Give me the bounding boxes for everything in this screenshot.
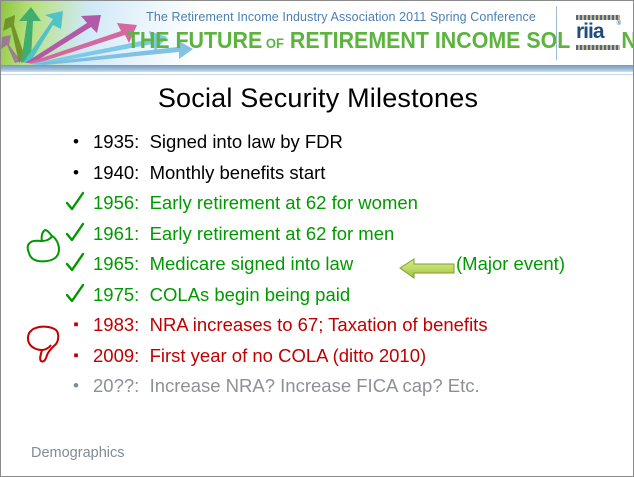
page-title: Social Security Milestones — [1, 83, 634, 114]
list-item: 1956: Early retirement at 62 for women — [1, 188, 634, 219]
bullet-square-icon: ▪ — [67, 341, 85, 371]
banner-title: THE FUTURE OF RETIREMENT INCOME SOLUTION… — [127, 27, 546, 54]
milestone-desc: Early retirement at 62 for women — [150, 192, 418, 213]
list-item-text: 1983: NRA increases to 67; Taxation of b… — [93, 310, 488, 340]
list-item-text: 1956: Early retirement at 62 for women — [93, 188, 418, 218]
checkmark-icon — [65, 252, 85, 274]
list-item: 1975: COLAs begin being paid — [1, 280, 634, 311]
milestone-desc: First year of no COLA (ditto 2010) — [150, 345, 427, 366]
list-item-text: 1975: COLAs begin being paid — [93, 280, 350, 310]
list-item-text: 1961: Early retirement at 62 for men — [93, 219, 394, 249]
milestone-year: 1983: — [93, 314, 139, 335]
list-item-text: 20??: Increase NRA? Increase FICA cap? E… — [93, 371, 480, 401]
footer-label: Demographics — [31, 445, 125, 461]
list-item: 1961: Early retirement at 62 for men — [1, 219, 634, 250]
milestone-desc: Signed into law by FDR — [150, 131, 343, 152]
milestone-year: 2009: — [93, 345, 139, 366]
milestone-year: 20??: — [93, 375, 139, 396]
milestone-year: 1961: — [93, 223, 139, 244]
bullet-dot-icon: • — [67, 127, 85, 157]
banner-title-part1: THE FUTURE — [127, 27, 262, 53]
thumbs-down-icon — [23, 319, 65, 363]
logo-trademark: ® — [617, 21, 621, 27]
milestone-year: 1975: — [93, 284, 139, 305]
riia-logo: riia ® — [567, 13, 625, 53]
bullet-dot-icon: • — [67, 371, 85, 401]
list-item-text: 1940: Monthly benefits start — [93, 158, 325, 188]
left-arrow-callout-icon — [399, 257, 455, 279]
slide: The Retirement Income Industry Associati… — [0, 0, 634, 477]
logo-wordmark: riia — [576, 20, 620, 44]
milestone-year: 1935: — [93, 131, 139, 152]
list-item-text: 1965: Medicare signed into law — [93, 249, 353, 279]
milestone-desc: Monthly benefits start — [150, 162, 326, 183]
milestone-desc: Medicare signed into law — [150, 253, 354, 274]
milestone-year: 1940: — [93, 162, 139, 183]
banner-thin-rule — [1, 74, 633, 75]
checkmark-icon — [65, 191, 85, 213]
banner-bottom-band — [1, 65, 633, 72]
list-item-text: 1935: Signed into law by FDR — [93, 127, 343, 157]
milestones-list: • 1935: Signed into law by FDR • 1940: M… — [1, 127, 634, 402]
list-item: • 1935: Signed into law by FDR — [1, 127, 634, 158]
list-item: 1965: Medicare signed into law (Major ev… — [1, 249, 634, 280]
checkmark-icon — [65, 222, 85, 244]
bullet-square-icon: ▪ — [67, 310, 85, 340]
list-item: • 1940: Monthly benefits start — [1, 158, 634, 189]
list-item: • 20??: Increase NRA? Increase FICA cap?… — [1, 371, 634, 402]
milestone-year: 1956: — [93, 192, 139, 213]
milestone-desc: Early retirement at 62 for men — [150, 223, 395, 244]
milestone-suffix: (Major event) — [456, 249, 565, 279]
conference-banner: The Retirement Income Industry Associati… — [1, 1, 633, 68]
list-item: ▪ 1983: NRA increases to 67; Taxation of… — [1, 310, 634, 341]
bullet-dot-icon: • — [67, 158, 85, 188]
logo-bottom-rule — [576, 45, 620, 50]
milestone-desc: NRA increases to 67; Taxation of benefit… — [150, 314, 488, 335]
thumbs-up-icon — [23, 227, 65, 267]
milestone-year: 1965: — [93, 253, 139, 274]
list-item-text: 2009: First year of no COLA (ditto 2010) — [93, 341, 426, 371]
banner-title-of: OF — [266, 35, 284, 51]
checkmark-icon — [65, 283, 85, 305]
milestone-desc: Increase NRA? Increase FICA cap? Etc. — [150, 375, 480, 396]
logo-divider — [556, 6, 557, 60]
list-item: ▪ 2009: First year of no COLA (ditto 201… — [1, 341, 634, 372]
banner-subtitle: The Retirement Income Industry Associati… — [141, 10, 541, 24]
milestone-desc: COLAs begin being paid — [150, 284, 351, 305]
